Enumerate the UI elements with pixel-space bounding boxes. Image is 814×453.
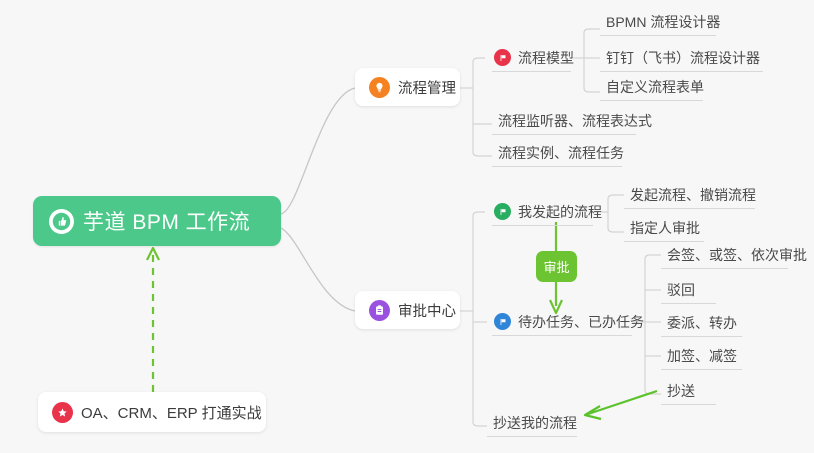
leaf-label: 抄送 [667, 381, 695, 401]
flag-icon [494, 203, 511, 220]
lightbulb-icon [369, 77, 390, 98]
leaf-my-initiated-process[interactable]: 我发起的流程 [492, 198, 593, 226]
leaf-process-listener-expression[interactable]: 流程监听器、流程表达式 [492, 107, 636, 135]
leaf-label: 流程实例、流程任务 [498, 143, 624, 163]
leaf-start-cancel-process[interactable]: 发起流程、撤销流程 [624, 181, 755, 209]
wire-pm-to-model [473, 58, 485, 62]
root-label: 芋道 BPM 工作流 [83, 206, 250, 236]
wire-root-to-process-management [281, 88, 355, 214]
leaf-label: 抄送我的流程 [493, 413, 577, 433]
node-integration[interactable]: OA、CRM、ERP 打通实战 [38, 392, 266, 432]
leaf-custom-process-form[interactable]: 自定义流程表单 [600, 73, 703, 101]
badge-label: 审批 [543, 257, 569, 276]
leaf-label: 会签、或签、依次审批 [667, 245, 807, 265]
leaf-cc[interactable]: 抄送 [661, 377, 716, 405]
leaf-label: 我发起的流程 [518, 202, 602, 222]
leaf-todo-done-tasks[interactable]: 待办任务、已办任务 [492, 308, 632, 336]
leaf-label: 委派、转办 [667, 313, 737, 333]
wire-ac-to-initiated [473, 212, 485, 216]
leaf-label: 流程监听器、流程表达式 [498, 111, 652, 131]
leaf-label: 钉钉（飞书）流程设计器 [606, 48, 760, 68]
integration-arrow [147, 248, 159, 392]
thumbs-up-icon [49, 209, 74, 234]
star-icon [52, 402, 73, 423]
leaf-label: 驳回 [667, 280, 695, 300]
leaf-label: 指定人审批 [630, 218, 700, 238]
wire-model-to-customform [584, 88, 600, 92]
wire-ac-to-ccme [473, 422, 487, 426]
leaf-label: 待办任务、已办任务 [518, 312, 644, 332]
leaf-label: 流程模型 [518, 48, 574, 68]
wire-todo-to-cc [645, 390, 661, 394]
leaf-label: 发起流程、撤销流程 [630, 185, 756, 205]
wire-initiated-to-start [608, 195, 624, 199]
leaf-delegate-transfer[interactable]: 委派、转办 [661, 309, 742, 337]
wire-todo-to-countersign [645, 255, 661, 259]
leaf-add-remove-sign[interactable]: 加签、减签 [661, 342, 742, 370]
wire-model-to-bpmn [584, 29, 600, 33]
leaf-bpmn-designer[interactable]: BPMN 流程设计器 [600, 8, 716, 36]
wire-pm-to-instance [473, 152, 492, 156]
wire-root-to-approval-center [281, 228, 355, 311]
leaf-label: 自定义流程表单 [606, 77, 704, 97]
cc-arrow [585, 391, 657, 419]
flag-icon [494, 49, 511, 66]
leaf-dingtalk-feishu-designer[interactable]: 钉钉（飞书）流程设计器 [600, 44, 763, 72]
leaf-process-instance-task[interactable]: 流程实例、流程任务 [492, 139, 622, 167]
leaf-reject[interactable]: 驳回 [661, 276, 716, 304]
node-process-management[interactable]: 流程管理 [355, 68, 460, 106]
node-label: 流程管理 [398, 77, 456, 98]
clipboard-icon [369, 300, 390, 321]
flag-icon [494, 313, 511, 330]
node-label: 审批中心 [398, 300, 456, 321]
mindmap-canvas: 芋道 BPM 工作流 流程管理 审批中心 [0, 0, 814, 453]
leaf-process-model[interactable]: 流程模型 [492, 44, 571, 72]
node-label: OA、CRM、ERP 打通实战 [81, 402, 262, 423]
root-node[interactable]: 芋道 BPM 工作流 [33, 196, 281, 246]
leaf-label: 加签、减签 [667, 346, 737, 366]
leaf-countersign-or-sequential[interactable]: 会签、或签、依次审批 [661, 241, 788, 269]
leaf-cc-to-me-process[interactable]: 抄送我的流程 [487, 409, 577, 437]
leaf-label: BPMN 流程设计器 [606, 12, 720, 32]
leaf-assignee-approval[interactable]: 指定人审批 [624, 214, 704, 242]
badge-approve[interactable]: 审批 [536, 251, 577, 282]
wire-initiated-to-assignee [608, 228, 624, 232]
node-approval-center[interactable]: 审批中心 [355, 291, 460, 329]
